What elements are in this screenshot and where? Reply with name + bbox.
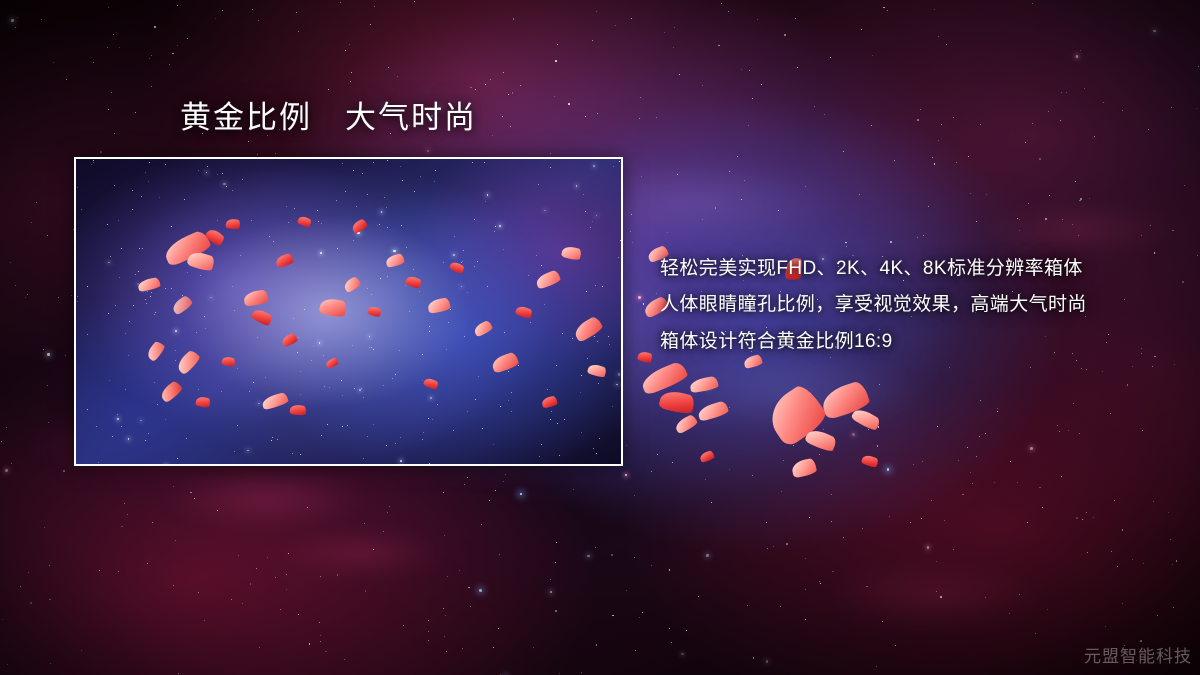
description-text-block: 轻松完美实现FHD、2K、4K、8K标准分辨率箱体 人体眼睛瞳孔比例，享受视觉效…	[660, 258, 1170, 367]
framed-photo-image	[76, 159, 621, 464]
description-line-2: 人体眼睛瞳孔比例，享受视觉效果，高端大气时尚	[660, 294, 1170, 316]
description-line-3: 箱体设计符合黄金比例16:9	[660, 331, 1170, 353]
description-line-1: 轻松完美实现FHD、2K、4K、8K标准分辨率箱体	[660, 258, 1170, 280]
watermark: 元盟智能科技	[1084, 642, 1192, 667]
framed-photo	[74, 157, 623, 466]
presentation-slide: 黄金比例 大气时尚 轻松完美实现FHD、2K、4K、8K标准分辨率箱体 人体眼睛…	[0, 0, 1200, 675]
page-title: 黄金比例 大气时尚	[180, 102, 477, 133]
petal	[289, 404, 306, 416]
